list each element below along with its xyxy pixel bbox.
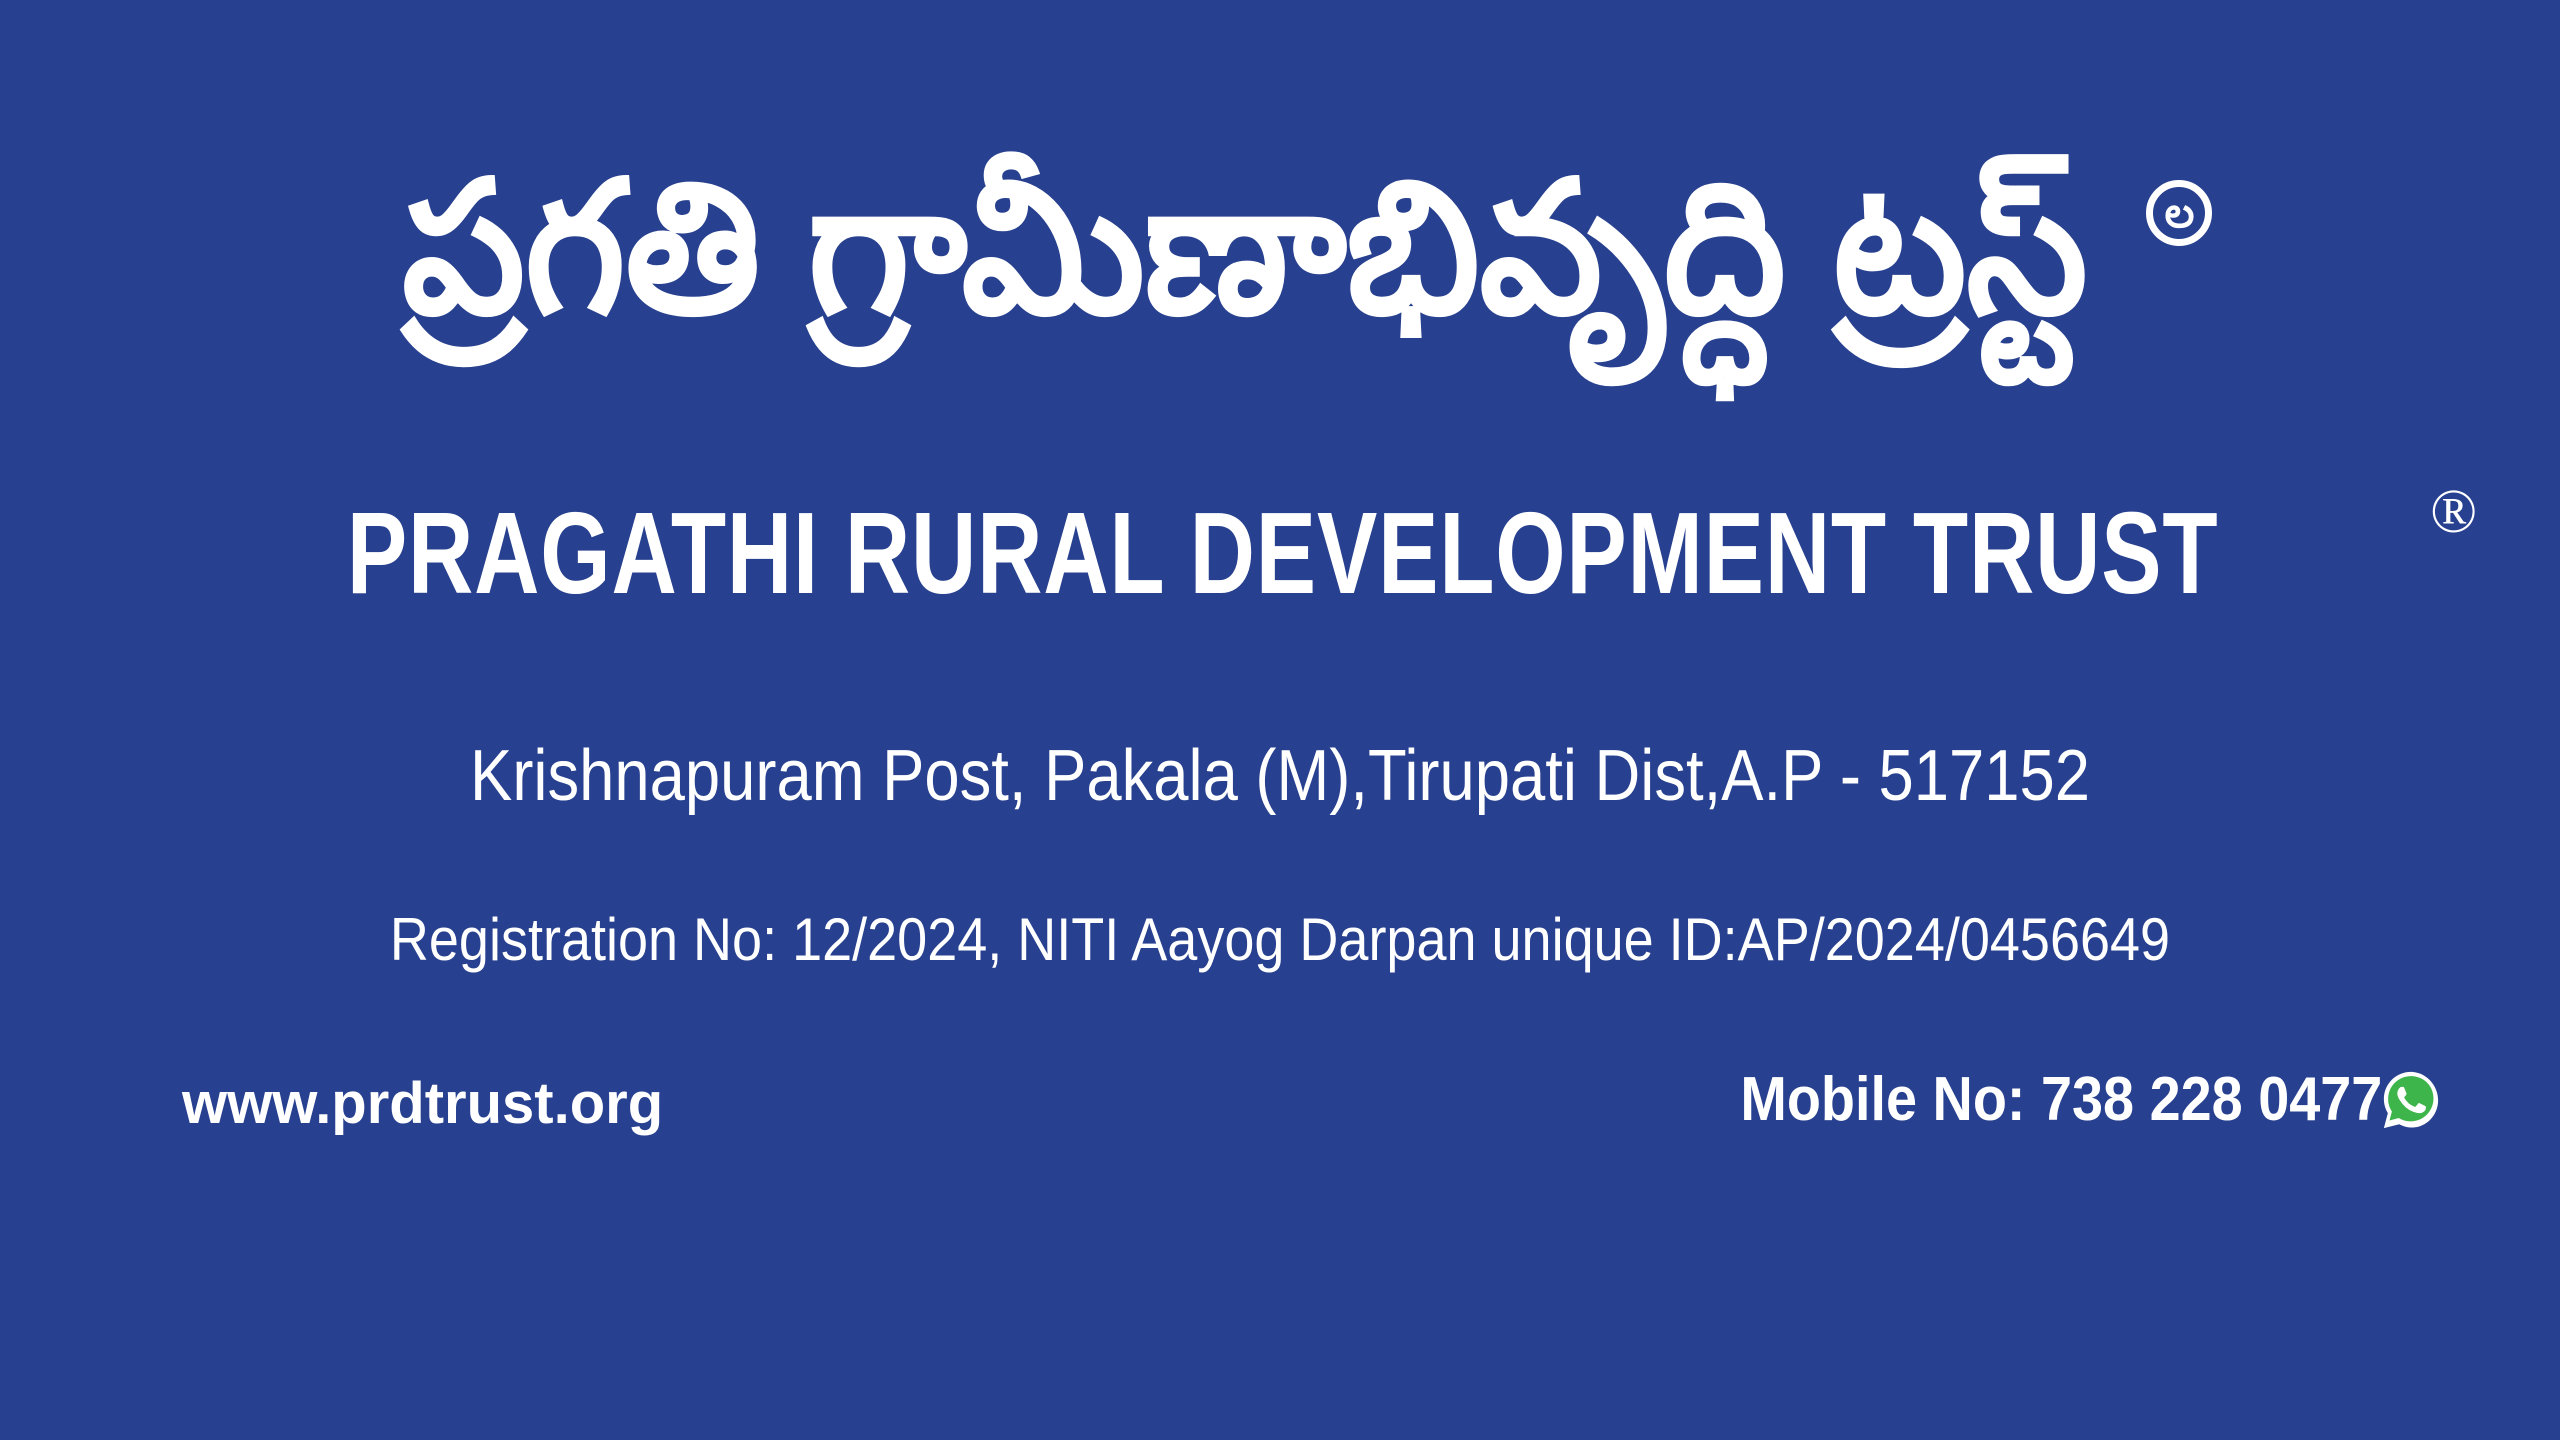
website-url[interactable]: www.prdtrust.org [182, 1070, 663, 1137]
english-title-row: PRAGATHI RURAL DEVELOPMENT TRUST ® [0, 495, 2560, 611]
registration-line: Registration No: 12/2024, NITI Aayog Dar… [128, 905, 2432, 974]
english-organization-name: PRAGATHI RURAL DEVELOPMENT TRUST [347, 495, 2218, 611]
mobile-number[interactable]: Mobile No: 738 228 0477 [1740, 1064, 2382, 1135]
whatsapp-icon[interactable] [2380, 1069, 2442, 1131]
trust-letterhead-banner: ప్రగతి గ్రామీణాభివృద్ధి ట్రస్ట్ ల PRAGAT… [0, 0, 2560, 1440]
address-line: Krishnapuram Post, Pakala (M),Tirupati D… [154, 735, 2407, 817]
telugu-organization-name: ప్రగతి గ్రామీణాభివృద్ధి ట్రస్ట్ [401, 150, 2086, 350]
mobile-group: Mobile No: 738 228 0477 [1669, 1064, 2442, 1135]
telugu-title-row: ప్రగతి గ్రామీణాభివృద్ధి ట్రస్ట్ ల [0, 150, 2560, 350]
registered-trademark-icon: ® [2430, 481, 2477, 543]
contact-row: www.prdtrust.org Mobile No: 738 228 0477 [0, 1060, 2560, 1170]
telugu-registered-mark-icon: ల [2146, 180, 2212, 246]
